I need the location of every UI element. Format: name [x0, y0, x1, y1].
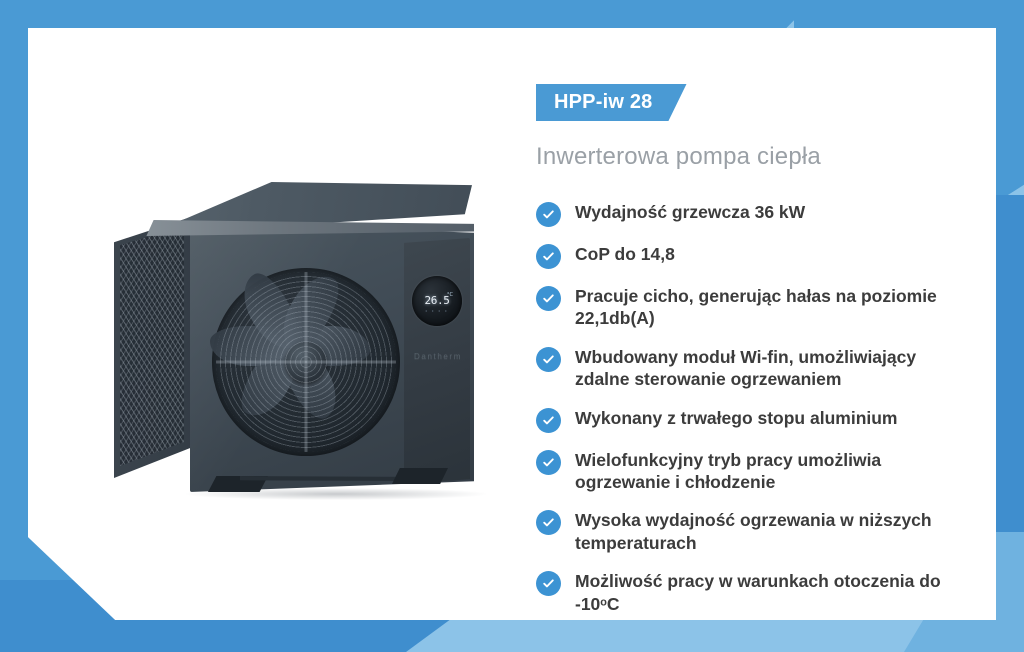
feature-label: Wbudowany moduł Wi-fin, umożliwiający zd… — [575, 346, 975, 391]
feature-item: Wydajność grzewcza 36 kW — [536, 201, 996, 227]
feature-item: Wykonany z trwałego stopu aluminium — [536, 407, 996, 433]
feature-label: Wykonany z trwałego stopu aluminium — [575, 407, 898, 429]
feature-label: Pracuje cicho, generując hałas na poziom… — [575, 285, 975, 330]
feature-item: Pracuje cicho, generując hałas na poziom… — [536, 285, 996, 330]
product-brand-label: Dantherm — [406, 352, 470, 361]
check-circle-icon — [536, 450, 561, 475]
feature-label-prefix: Możliwość pracy w warunkach otoczenia do… — [575, 571, 941, 613]
product-fan-guard-crossbars — [216, 272, 396, 452]
feature-label: CoP do 14,8 — [575, 243, 675, 265]
product-display-temperature: 26.5 — [425, 294, 450, 307]
feature-label: Wysoka wydajność ogrzewania w niższych t… — [575, 509, 975, 554]
product-control-panel — [404, 238, 470, 484]
check-circle-icon — [536, 571, 561, 596]
feature-list: Wydajność grzewcza 36 kW CoP do 14,8 Pra… — [536, 201, 996, 615]
product-display-screen: 26.5 °C • • • • — [412, 276, 462, 326]
feature-label: Wielofunkcyjny tryb pracy umożliwia ogrz… — [575, 449, 975, 494]
check-circle-icon — [536, 202, 561, 227]
product-info-panel: HPP-iw 28 Inwerterowa pompa ciepła Wydaj… — [536, 84, 996, 631]
feature-label: Wydajność grzewcza 36 kW — [575, 201, 805, 223]
model-badge: HPP-iw 28 — [536, 84, 687, 121]
product-display-indicator-dots: • • • • — [412, 308, 462, 313]
check-circle-icon — [536, 244, 561, 269]
product-image-heat-pump: 26.5 °C • • • • Dantherm — [90, 176, 490, 516]
product-display-unit: °C — [447, 292, 453, 298]
feature-item: Wielofunkcyjny tryb pracy umożliwia ogrz… — [536, 449, 996, 494]
feature-label: Możliwość pracy w warunkach otoczenia do… — [575, 570, 975, 615]
check-circle-icon — [536, 510, 561, 535]
feature-label-degree-superscript: o — [600, 596, 607, 608]
feature-item: CoP do 14,8 — [536, 243, 996, 269]
content-card: 26.5 °C • • • • Dantherm HPP-iw 28 Inwer… — [28, 28, 996, 620]
feature-item: Wysoka wydajność ogrzewania w niższych t… — [536, 509, 996, 554]
check-circle-icon — [536, 408, 561, 433]
product-subtitle: Inwerterowa pompa ciepła — [536, 143, 996, 171]
check-circle-icon — [536, 347, 561, 372]
slide-root: 26.5 °C • • • • Dantherm HPP-iw 28 Inwer… — [0, 0, 1024, 652]
check-circle-icon — [536, 286, 561, 311]
product-foot-right — [392, 468, 448, 484]
feature-item: Wbudowany moduł Wi-fin, umożliwiający zd… — [536, 346, 996, 391]
product-side-grille-mesh — [120, 226, 184, 466]
feature-label-suffix: C — [607, 594, 620, 614]
feature-item: Możliwość pracy w warunkach otoczenia do… — [536, 570, 996, 615]
